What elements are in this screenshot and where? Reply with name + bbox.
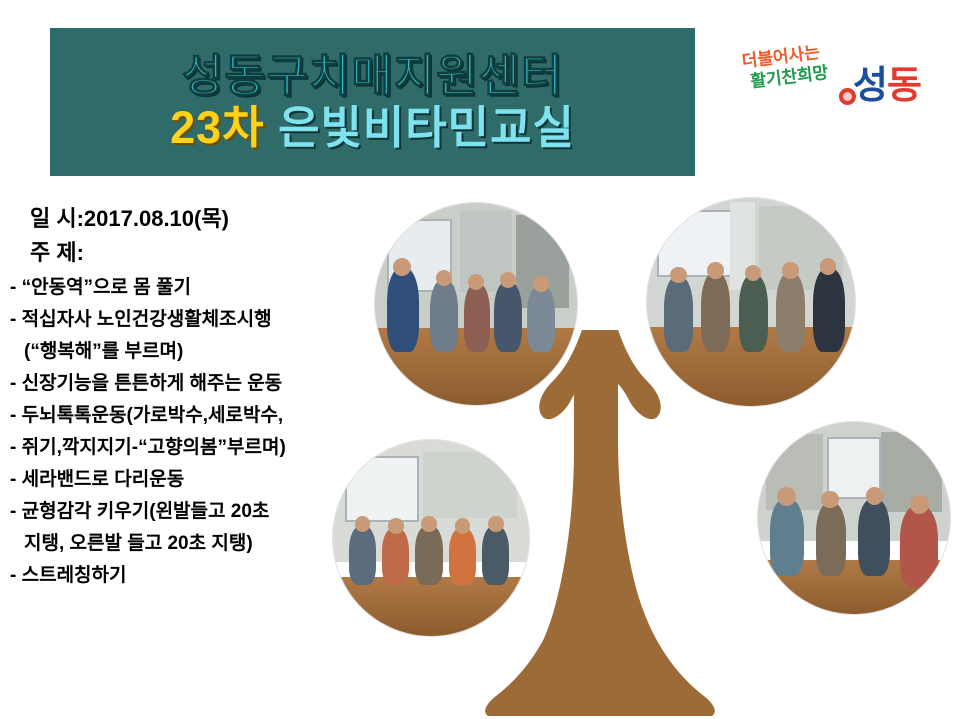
program-item: (“행복해”를 부르며) [8,342,408,361]
banner-session-title: 은빛비타민교실 [265,102,575,153]
slide: 성동구치매지원센터 23차 은빛비타민교실 더불어사는 활기찬희망 성동 일 시… [0,0,956,719]
program-item: - 신장기능을 튼튼하게 해주는 운동 [8,374,408,393]
program-item: - “안동역”으로 몸 풀기 [8,278,408,297]
photo-bottom-left [333,440,529,636]
banner-title-line2: 23차 은빛비타민교실 [170,102,575,154]
logo-brand-part1: 성 [853,65,887,107]
title-banner: 성동구치매지원센터 23차 은빛비타민교실 [50,28,695,176]
photo-top-right [647,198,855,406]
program-item: - 두뇌톡톡운동(가로박수,세로박수, [8,406,408,425]
banner-title-line1: 성동구치매지원센터 [182,50,564,102]
seongdong-logo: 더불어사는 활기찬희망 성동 [735,42,935,127]
topic-label: 주 제: [8,242,408,264]
program-item: - 적십자사 노인건강생활체조시행 [8,310,408,329]
logo-script: 더불어사는 활기찬희망 [741,41,830,93]
logo-brand-part2: 동 [887,65,921,107]
event-date: 일 시:2017.08.10(목) [8,208,408,230]
banner-session-number: 23차 [170,102,264,153]
photo-top-left [375,203,577,405]
logo-brand: 성동 [853,54,921,109]
photo-bottom-right [758,422,950,614]
